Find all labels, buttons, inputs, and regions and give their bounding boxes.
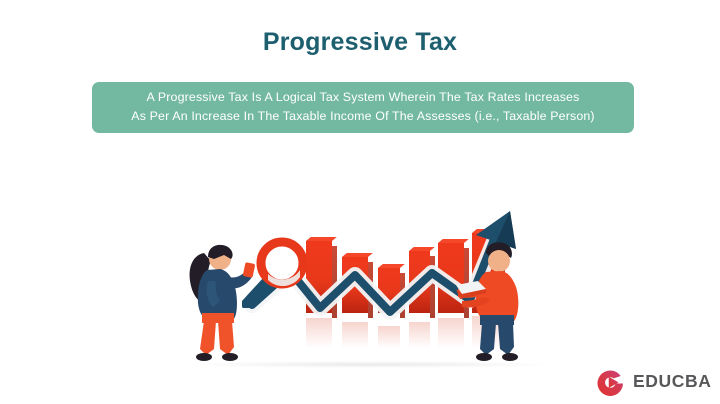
illustration <box>180 165 560 370</box>
man-with-laptop-illustration <box>456 237 546 363</box>
educba-logo: EDUCBA <box>596 366 700 398</box>
woman-with-phone-illustration <box>180 237 266 363</box>
definition-line-1: A Progressive Tax Is A Logical Tax Syste… <box>147 88 580 107</box>
slide-canvas: Progressive Tax A Progressive Tax Is A L… <box>0 0 720 404</box>
definition-banner: A Progressive Tax Is A Logical Tax Syste… <box>92 82 634 133</box>
educba-wordmark: EDUCBA <box>633 373 711 391</box>
page-title: Progressive Tax <box>0 28 720 57</box>
educba-circle-play-logo-icon <box>596 367 626 397</box>
definition-line-2: As Per An Increase In The Taxable Income… <box>131 107 594 126</box>
